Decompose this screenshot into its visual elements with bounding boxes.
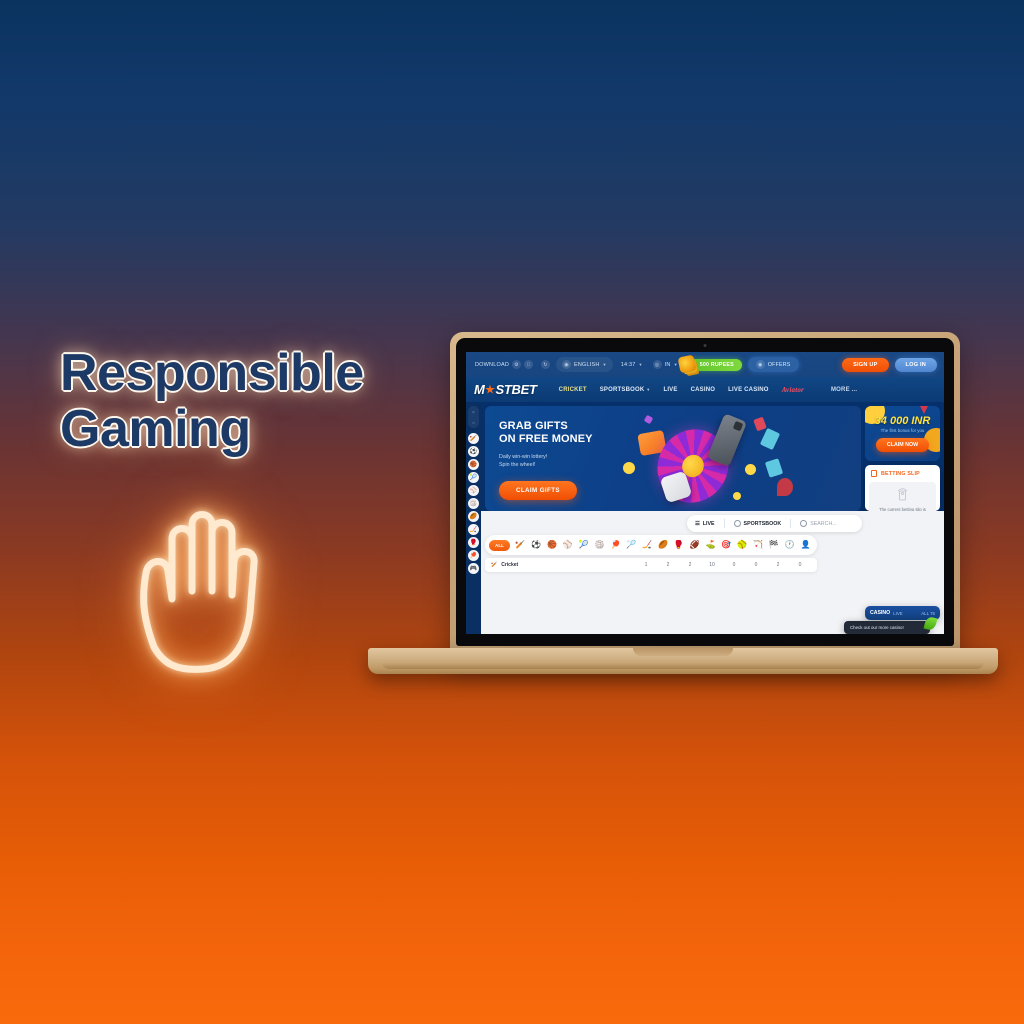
table-row-label: Cricket [501, 562, 518, 568]
table-row-label-group: 🏏 Cricket [491, 562, 635, 568]
search-placeholder: SEARCH... [810, 521, 837, 527]
open-palm-stop-hand-icon [120, 495, 310, 675]
hero-subtitle: Daily win-win lottery! Spin the wheel! [499, 453, 619, 470]
cricket-icon: 🏏 [491, 562, 497, 568]
confetti-icon [644, 415, 654, 425]
confetti-icon [745, 464, 756, 475]
table-cell: 10 [701, 562, 723, 568]
table-cell: 2 [657, 562, 679, 568]
sidebar-item-tennis[interactable]: 🎾 [468, 472, 479, 483]
table-row[interactable]: 🏏 Cricket 1 2 2 10 0 0 [485, 558, 817, 572]
laptop-bezel: DOWNLOAD ⚙  ↻ ◉ ENGLISH ▼ 14:37 ▼ [456, 338, 954, 646]
hero-title-line-1: GRAB GIFTS [499, 420, 619, 433]
bonus-chip-label: 500 RUPEES [700, 362, 734, 368]
betting-slip-header: BETTING SLIP [865, 465, 940, 482]
sidebar-item-baseball[interactable]: ⚾ [468, 485, 479, 496]
hero-artwork [615, 412, 790, 510]
confetti-icon [753, 417, 767, 432]
download-group[interactable]: DOWNLOAD ⚙  [473, 357, 535, 372]
sidebar-item-esports[interactable]: 🎮 [468, 563, 479, 574]
table-cell: 0 [789, 562, 811, 568]
promo-amount: 34 000 INR [875, 415, 931, 427]
clock-history-icon[interactable]: ↻ [541, 360, 550, 369]
sports-filter-volleyball-icon[interactable]: 🏐 [592, 538, 607, 552]
coins-icon [677, 354, 696, 373]
sports-filter-boxing-icon[interactable]: 🥊 [671, 538, 686, 552]
hero-title: GRAB GIFTS ON FREE MONEY [499, 420, 619, 446]
filter-sportsbook-label: SPORTSBOOK [744, 521, 782, 527]
filter-live-label: LIVE [703, 521, 715, 527]
sidebar-item-boxing[interactable]: 🥊 [468, 537, 479, 548]
language-label: ENGLISH [574, 362, 600, 368]
india-flag-icon: ◎ [653, 360, 662, 369]
table-row-values: 1 2 2 10 0 0 2 0 [635, 562, 811, 568]
laptop-device: DOWNLOAD ⚙  ↻ ◉ ENGLISH ▼ 14:37 ▼ [368, 332, 998, 692]
sports-filter-all[interactable]: ALL [489, 540, 510, 551]
filter-live[interactable]: ☰ LIVE [695, 521, 715, 527]
empty-slip-icon [895, 486, 910, 502]
laptop-notch [633, 648, 733, 656]
laptop-foot [382, 662, 984, 669]
browser-screen: DOWNLOAD ⚙  ↻ ◉ ENGLISH ▼ 14:37 ▼ [466, 352, 944, 634]
language-selector[interactable]: ◉ ENGLISH ▼ [556, 357, 613, 372]
ball-icon [734, 520, 741, 527]
nav-item-sportsbook[interactable]: SPORTSBOOK ▼ [600, 387, 651, 393]
star-icon [485, 385, 495, 395]
smartphone-icon [707, 413, 747, 466]
betting-slip-title: BETTING SLIP [881, 471, 920, 477]
nav-item-live[interactable]: LIVE [663, 387, 677, 393]
sports-filter-rugby-icon[interactable]: 🏉 [656, 538, 671, 552]
nav-item-sportsbook-label: SPORTSBOOK [600, 387, 645, 393]
nav-item-cricket[interactable]: CRICKET [559, 387, 587, 393]
sports-filter-handball-icon[interactable]: 🥎 [735, 538, 750, 552]
offers-chip[interactable]: ◉ OFFERS [748, 357, 799, 372]
casino-tooltip: Check out our more casino! [844, 621, 930, 634]
sidebar-item-hockey[interactable]: 🏒 [468, 524, 479, 535]
nav-item-more[interactable]: MORE ... [831, 387, 857, 393]
sports-filter-american-football-icon[interactable]: 🏈 [687, 538, 702, 552]
sidebar-item-volleyball[interactable]: 🏐 [468, 498, 479, 509]
divider [790, 519, 791, 528]
sports-filter-row: ALL 🏏 ⚽ 🏀 ⚾ 🎾 🏐 🏓 🏸 🏒 🏉 [485, 535, 817, 555]
headline-line-1: Responsible [60, 344, 364, 402]
apple-icon[interactable]:  [524, 360, 533, 369]
search-input[interactable]: SEARCH... [800, 520, 854, 527]
sidebar-item-rugby[interactable]: 🏉 [468, 511, 479, 522]
sports-filter-snooker-icon[interactable]: 🏹 [751, 538, 766, 552]
gift-target-icon: ◉ [756, 360, 765, 369]
nav-item-aviator[interactable]: Aviator [782, 386, 804, 394]
confetti-icon [777, 478, 793, 496]
sports-filter-clock-icon[interactable]: 🕐 [782, 538, 797, 552]
hero-title-line-2: ON FREE MONEY [499, 433, 619, 446]
search-icon [800, 520, 807, 527]
sports-filter-table-tennis-icon[interactable]: 🏓 [608, 538, 623, 552]
sports-filter-golf-icon[interactable]: ⛳ [703, 538, 718, 552]
bell-icon[interactable]: ☼ [472, 409, 476, 414]
main-content: GRAB GIFTS ON FREE MONEY Daily win-win l… [481, 402, 944, 634]
filter-row: ☰ LIVE SPORTSBOOK [485, 515, 940, 532]
casino-panel-title: CASINO [870, 610, 890, 616]
confetti-icon [760, 428, 780, 450]
site-body: ☼ ○ 🏏 ⚽ 🏀 🎾 ⚾ 🏐 🏉 🏒 🥊 🏓 🎮 [466, 402, 944, 634]
live-bars-icon: ☰ [695, 521, 700, 527]
claim-now-button[interactable]: CLAIM NOW [876, 438, 929, 452]
table-cell: 0 [745, 562, 767, 568]
table-cell: 1 [635, 562, 657, 568]
table-cell: 0 [723, 562, 745, 568]
confetti-icon [733, 492, 741, 500]
table-cell: 2 [679, 562, 701, 568]
decorative-triangle [918, 406, 930, 414]
chevron-down-icon: ▼ [646, 387, 650, 392]
sports-filter-darts-icon[interactable]: 🎯 [719, 538, 734, 552]
confetti-icon [623, 462, 635, 474]
sports-filter-badminton-icon[interactable]: 🏸 [624, 538, 639, 552]
log-in-button[interactable]: LOG IN [895, 358, 937, 372]
claim-gifts-button[interactable]: CLAIM GIFTS [499, 481, 577, 500]
sports-filter-basketball-icon[interactable]: 🏀 [545, 538, 560, 552]
webcam-icon [704, 344, 707, 347]
sports-filter-football-icon[interactable]: ⚽ [529, 538, 544, 552]
time-label: 14:37 [621, 362, 636, 368]
sports-filter-baseball-icon[interactable]: ⚾ [560, 538, 575, 552]
country-label: IN [665, 362, 671, 368]
confetti-icon [765, 458, 783, 478]
sports-filter-tennis-icon[interactable]: 🎾 [576, 538, 591, 552]
promo-card[interactable]: 34 000 INR The first bonus for you CLAIM… [865, 406, 940, 461]
right-rail: 34 000 INR The first bonus for you CLAIM… [865, 406, 940, 511]
clock-icon[interactable]: ○ [472, 420, 474, 425]
logo-text-right: STBET [496, 382, 537, 397]
chevron-down-icon: ▼ [674, 362, 678, 367]
mostbet-logo[interactable]: MSTBET [474, 382, 537, 397]
table-cell: 2 [767, 562, 789, 568]
nav-links: CRICKET SPORTSBOOK ▼ LIVE CASINO LIVE CA… [559, 386, 858, 394]
nav-item-casino[interactable]: CASINO [691, 387, 716, 393]
sports-filter-flag-icon[interactable]: 🏁 [766, 538, 781, 552]
laptop-base [368, 648, 998, 674]
betting-slip-empty-state: The current betting slip is empty! Add e… [869, 482, 936, 511]
casino-panel-subtitle: LIVE [893, 611, 903, 616]
laptop-lid: DOWNLOAD ⚙  ↻ ◉ ENGLISH ▼ 14:37 ▼ [450, 332, 960, 662]
mode-filter-bar: ☰ LIVE SPORTSBOOK [687, 515, 862, 532]
site-topbar: DOWNLOAD ⚙  ↻ ◉ ENGLISH ▼ 14:37 ▼ [466, 352, 944, 377]
logo-text-left: M [474, 382, 485, 397]
bonus-chip[interactable]: 500 RUPEES [686, 359, 742, 371]
hero-sub-line-2: Spin the wheel! [499, 461, 619, 469]
casino-panel-count: ALL 76 [921, 611, 935, 616]
nav-item-live-casino[interactable]: LIVE CASINO [728, 387, 769, 393]
sports-filter-cricket-icon[interactable]: 🏏 [513, 538, 528, 552]
hero-text-block: GRAB GIFTS ON FREE MONEY Daily win-win l… [499, 420, 619, 470]
chevron-down-icon: ▼ [638, 362, 642, 367]
betting-slip-panel: BETTING SLIP [865, 465, 940, 511]
sidebar-top-group[interactable]: ☼ ○ [468, 406, 479, 428]
clock-time: 14:37 ▼ [619, 359, 645, 371]
sidebar-item-basketball[interactable]: 🏀 [468, 459, 479, 470]
lower-section: ☰ LIVE SPORTSBOOK [481, 511, 944, 634]
receipt-icon [871, 470, 877, 477]
globe-icon: ◉ [562, 360, 571, 369]
hero-sub-line-1: Daily win-win lottery! [499, 453, 619, 461]
sports-filter-user-icon[interactable]: 👤 [798, 538, 813, 552]
sidebar-item-cricket[interactable]: 🏏 [468, 433, 479, 444]
sidebar-item-football[interactable]: ⚽ [468, 446, 479, 457]
divider [724, 519, 725, 528]
chevron-down-icon: ▼ [603, 362, 607, 367]
download-label: DOWNLOAD [475, 362, 509, 368]
android-icon[interactable]: ⚙ [512, 360, 521, 369]
promo-subtitle: The first bonus for you [881, 428, 925, 433]
country-selector[interactable]: ◎ IN ▼ [651, 357, 680, 372]
site-navbar: MSTBET CRICKET SPORTSBOOK ▼ LIVE CASINO … [466, 377, 944, 402]
sign-up-button[interactable]: SIGN UP [842, 358, 888, 372]
sports-sidebar: ☼ ○ 🏏 ⚽ 🏀 🎾 ⚾ 🏐 🏉 🏒 🥊 🏓 🎮 [466, 402, 481, 634]
sidebar-item-table-tennis[interactable]: 🏓 [468, 550, 479, 561]
filter-sportsbook[interactable]: SPORTSBOOK [734, 520, 782, 527]
offers-chip-label: OFFERS [768, 362, 791, 368]
hero-banner[interactable]: GRAB GIFTS ON FREE MONEY Daily win-win l… [485, 406, 861, 511]
upper-section: GRAB GIFTS ON FREE MONEY Daily win-win l… [481, 402, 944, 511]
sports-filter-hockey-icon[interactable]: 🏒 [640, 538, 655, 552]
